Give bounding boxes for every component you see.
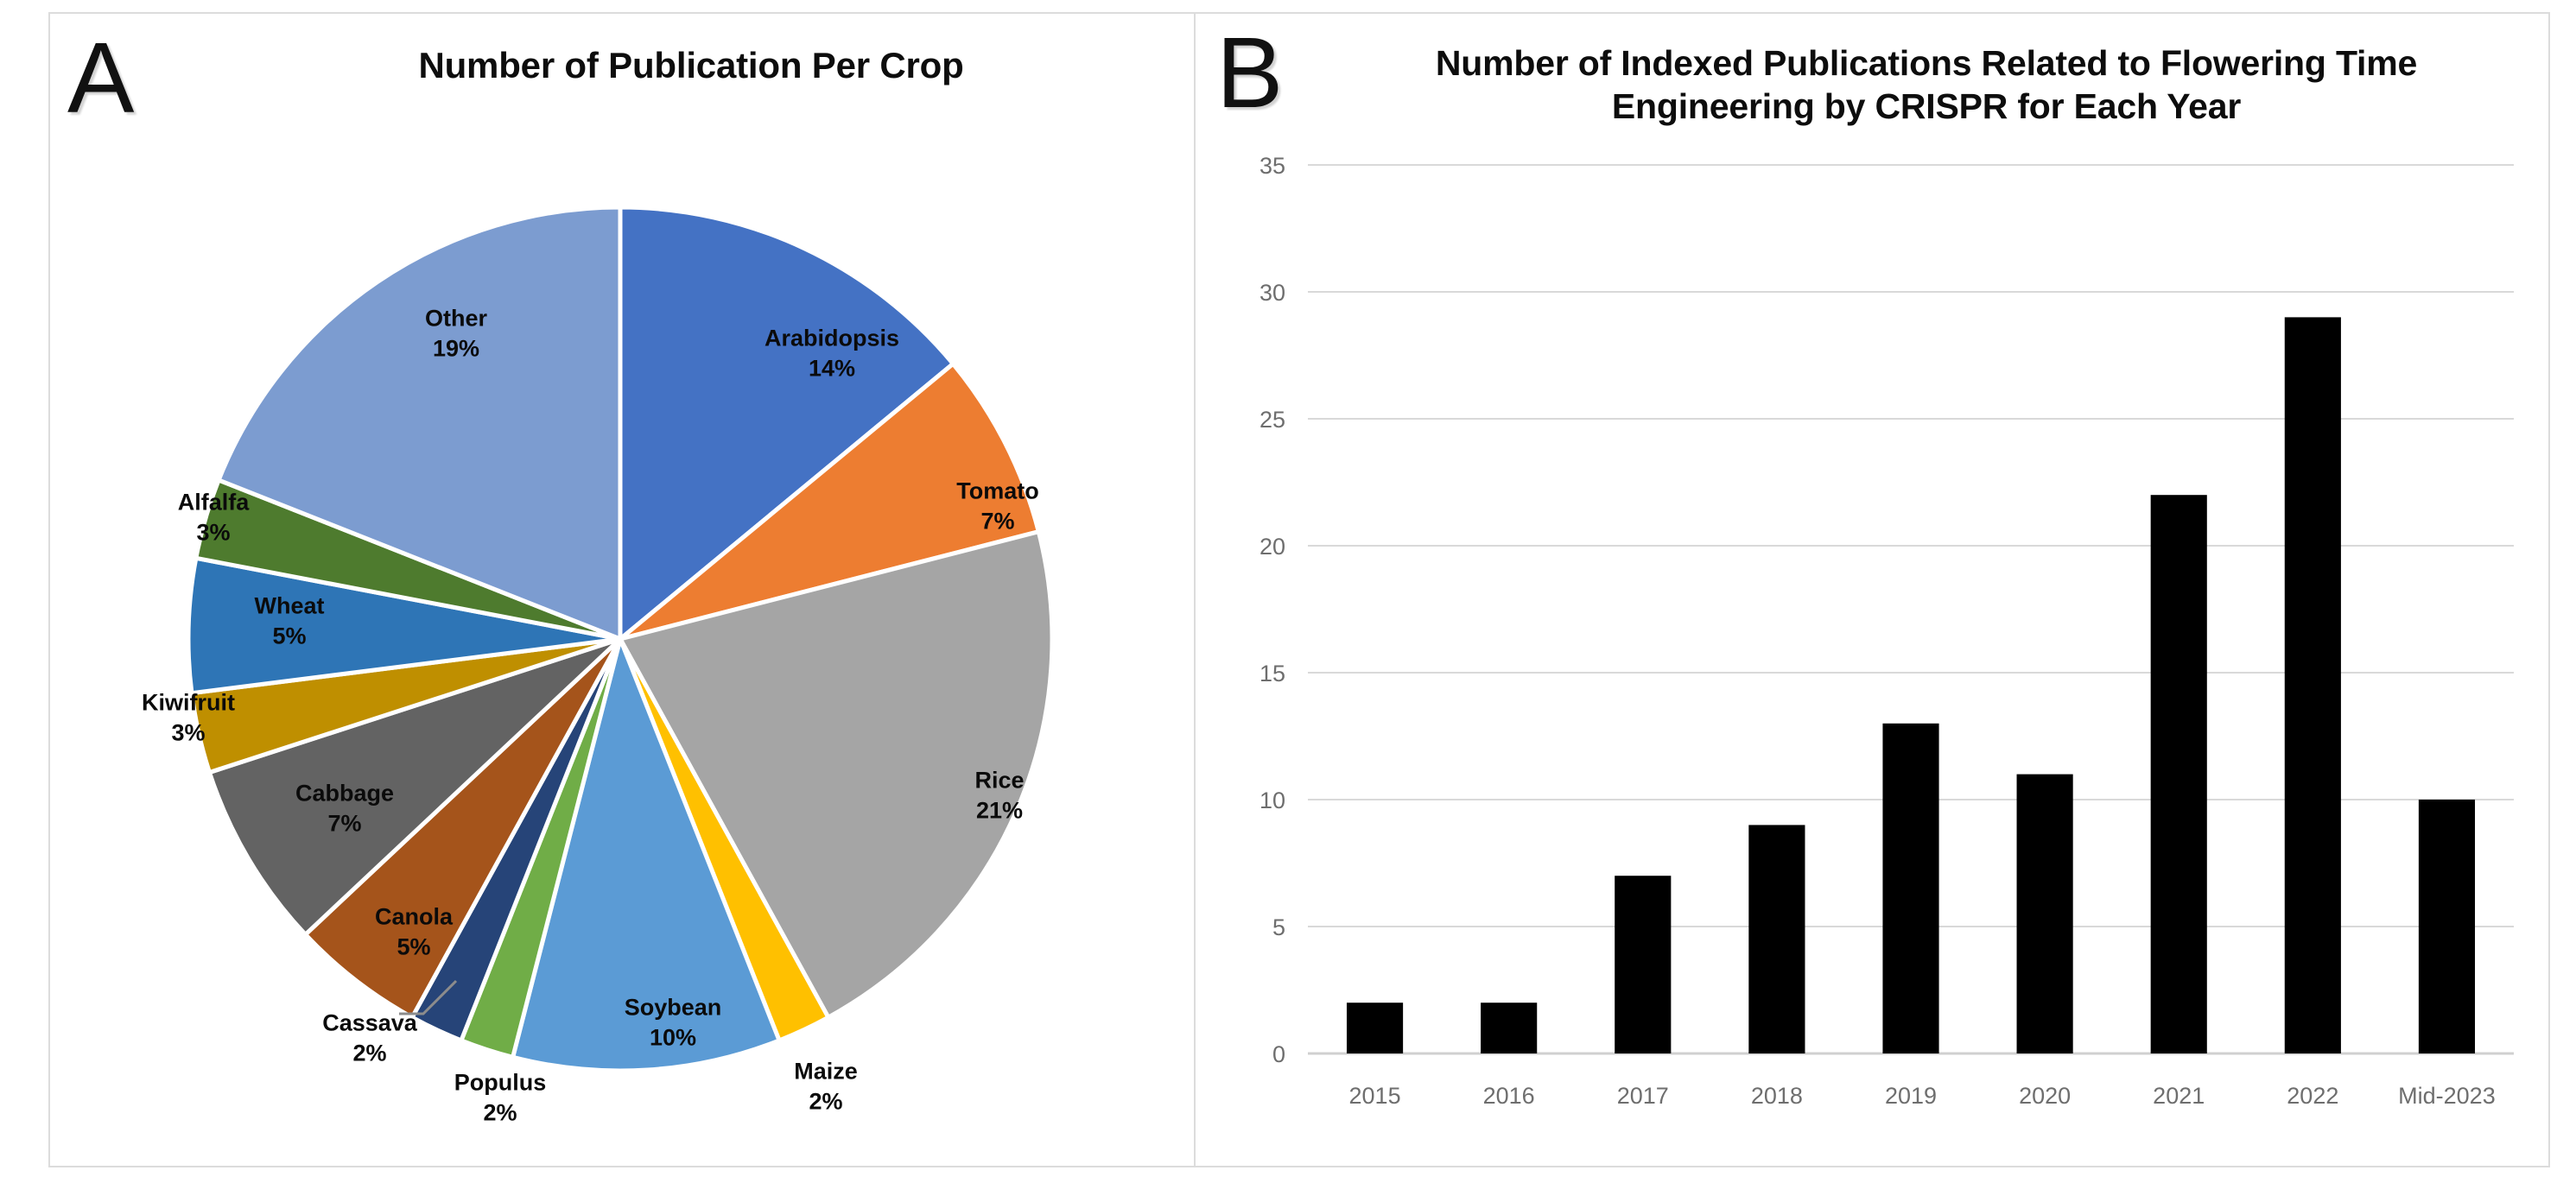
- figure-container: Arabidopsis14%Tomato7%Rice21%Maize2%Soyb…: [0, 0, 2576, 1183]
- panel-a-pie-chart: Arabidopsis14%Tomato7%Rice21%Maize2%Soyb…: [50, 14, 1192, 1166]
- panel-b-title-line-1: Number of Indexed Publications Related t…: [1348, 41, 2505, 85]
- y-tick-label-25: 25: [1259, 407, 1285, 433]
- x-tick-label-2018: 2018: [1751, 1083, 1803, 1109]
- bar-2015[interactable]: [1347, 1003, 1403, 1053]
- bar-mid-2023[interactable]: [2419, 800, 2475, 1053]
- panel-b-letter: B: [1216, 22, 1283, 123]
- bar-2020[interactable]: [2017, 775, 2073, 1053]
- bar-chart-svg: 0510152025303520152016201720182019202020…: [1196, 14, 2548, 1166]
- x-tick-label-2021: 2021: [2153, 1083, 2205, 1109]
- bar-2018[interactable]: [1748, 825, 1805, 1053]
- x-tick-label-2020: 2020: [2019, 1083, 2071, 1109]
- panel-b-title: Number of Indexed Publications Related t…: [1348, 41, 2505, 128]
- x-tick-label-2016: 2016: [1483, 1083, 1535, 1109]
- x-tick-label-mid-2023: Mid-2023: [2398, 1083, 2496, 1109]
- bar-2016[interactable]: [1481, 1003, 1537, 1053]
- panel-b-title-line-2: Engineering by CRISPR for Each Year: [1348, 85, 2505, 128]
- y-tick-label-35: 35: [1259, 153, 1285, 179]
- y-tick-label-0: 0: [1272, 1041, 1285, 1067]
- panel-a-title: Number of Publication Per Crop: [259, 45, 1123, 86]
- bar-2021[interactable]: [2151, 495, 2207, 1053]
- x-tick-label-2022: 2022: [2287, 1083, 2338, 1109]
- panel-b-bar-chart: 0510152025303520152016201720182019202020…: [1196, 14, 2548, 1166]
- x-tick-label-2019: 2019: [1885, 1083, 1937, 1109]
- panel-a-letter: A: [67, 28, 134, 128]
- bar-2017[interactable]: [1615, 876, 1671, 1053]
- pie-chart-svg: [50, 14, 1192, 1166]
- bar-2022[interactable]: [2285, 317, 2341, 1053]
- y-tick-label-10: 10: [1259, 788, 1285, 813]
- y-tick-label-5: 5: [1272, 914, 1285, 940]
- y-tick-label-20: 20: [1259, 534, 1285, 560]
- bar-2019[interactable]: [1882, 724, 1938, 1053]
- y-tick-label-15: 15: [1259, 661, 1285, 686]
- x-tick-label-2017: 2017: [1617, 1083, 1669, 1109]
- x-tick-label-2015: 2015: [1349, 1083, 1401, 1109]
- y-tick-label-30: 30: [1259, 280, 1285, 306]
